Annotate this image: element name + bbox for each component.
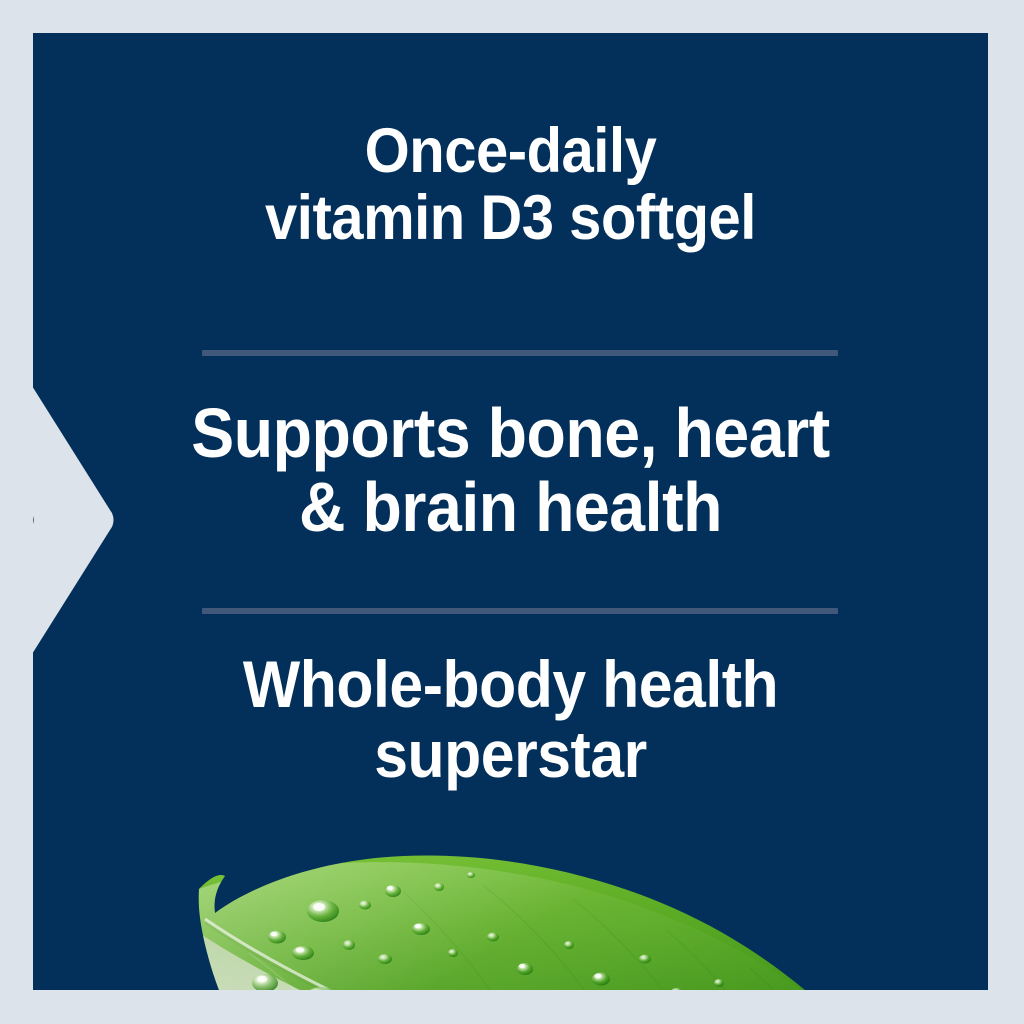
claims-list: Once-daily vitamin D3 softgel Supports b… bbox=[33, 33, 988, 813]
claim-line: Supports bone, heart bbox=[71, 396, 950, 470]
navy-content-panel: Once-daily vitamin D3 softgel Supports b… bbox=[33, 33, 988, 990]
claim-line: Whole-body health bbox=[71, 650, 950, 720]
claim-whole-body-superstar: Whole-body health superstar bbox=[71, 650, 950, 790]
claim-supports-health: Supports bone, heart & brain health bbox=[71, 396, 950, 544]
claim-line: superstar bbox=[71, 720, 950, 790]
leaf-body bbox=[153, 855, 933, 990]
claim-line: Once-daily bbox=[71, 118, 950, 185]
claim-line: vitamin D3 softgel bbox=[71, 185, 950, 252]
promo-image-root: Once-daily vitamin D3 softgel Supports b… bbox=[0, 0, 1024, 1024]
claim-divider bbox=[202, 608, 838, 614]
claim-once-daily: Once-daily vitamin D3 softgel bbox=[71, 118, 950, 252]
water-droplets bbox=[252, 872, 806, 990]
claim-line: & brain health bbox=[71, 470, 950, 544]
leaf-image bbox=[153, 833, 933, 990]
claim-divider bbox=[202, 350, 838, 356]
